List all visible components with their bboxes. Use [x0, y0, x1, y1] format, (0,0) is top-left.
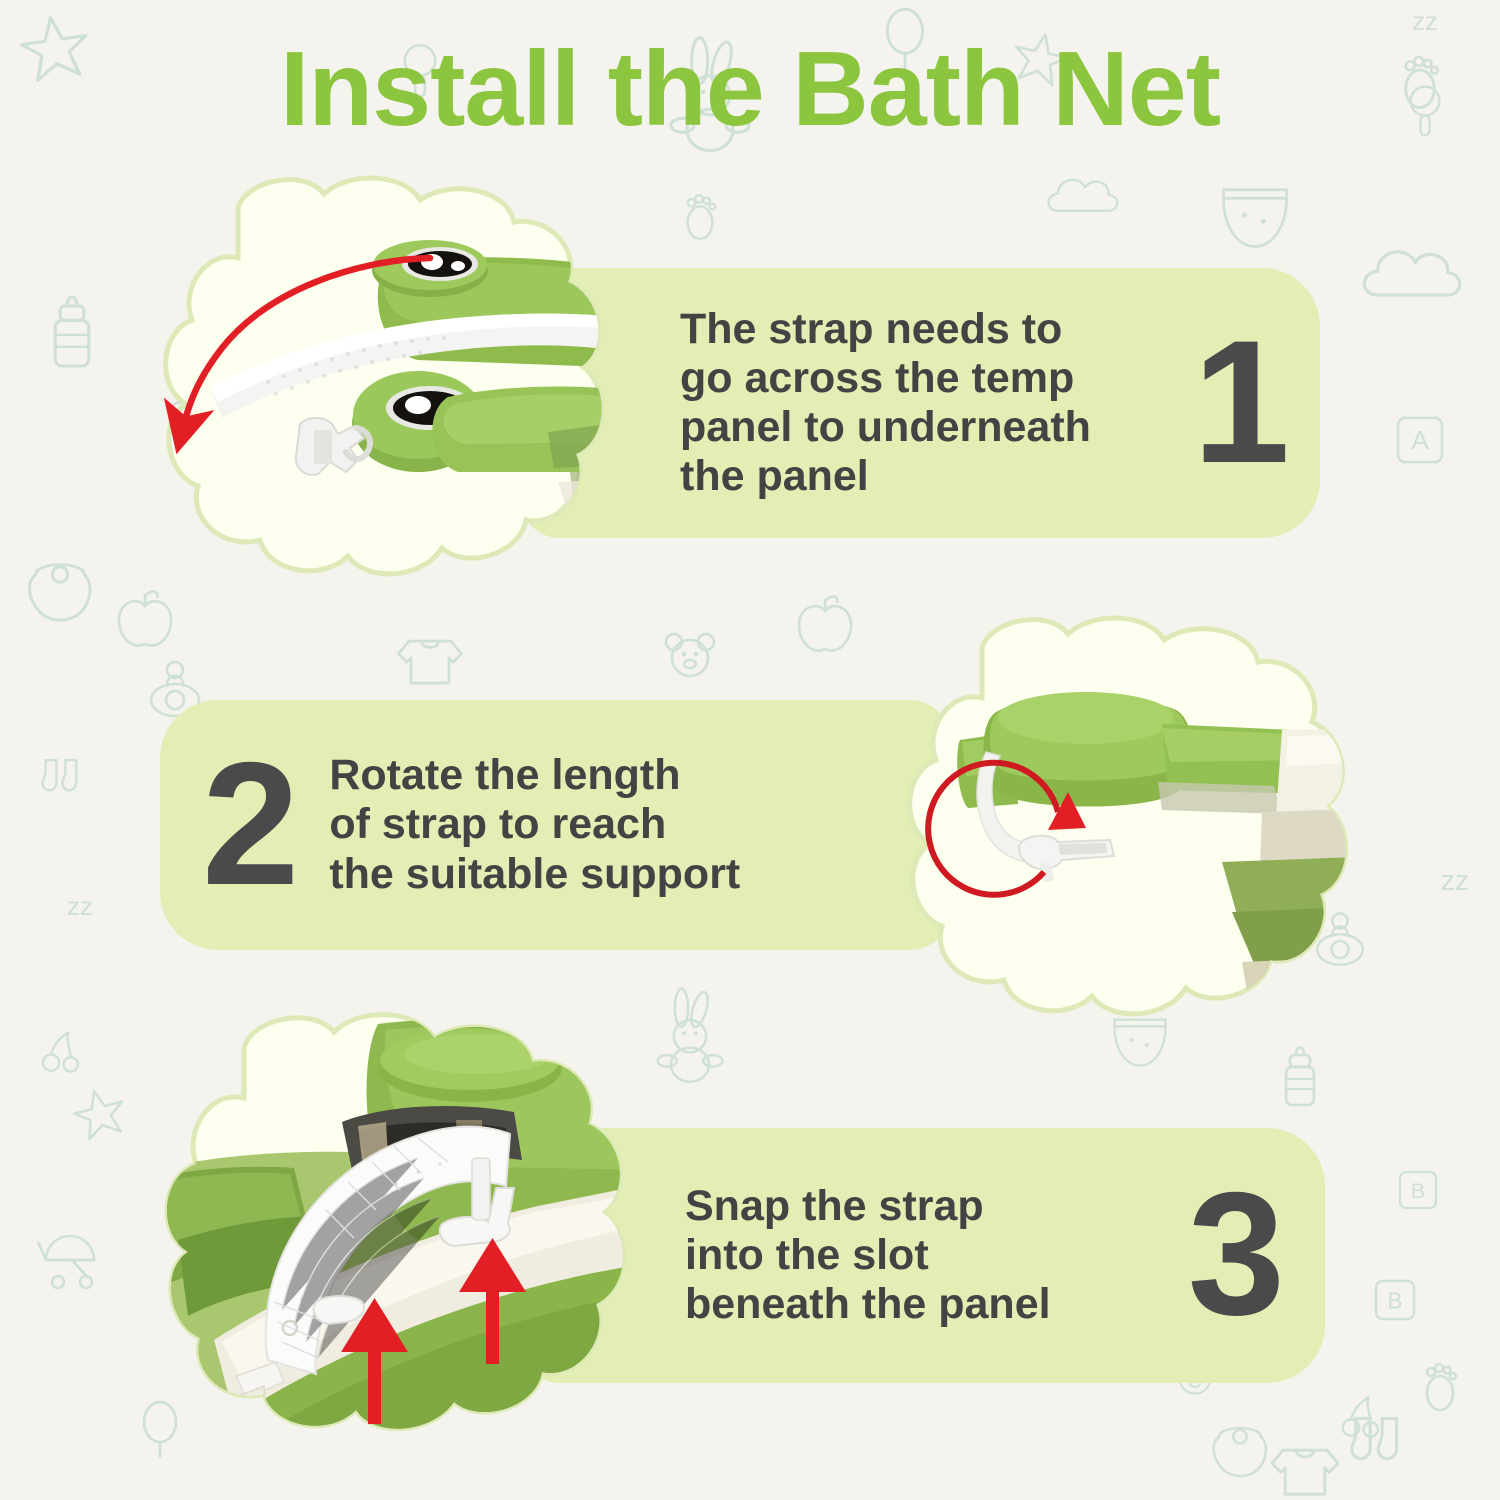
step-1-image-panel — [118, 172, 638, 614]
up-arrow-right — [459, 1238, 526, 1364]
step-2-text-pill: 2 Rotate the length of strap to reach th… — [160, 700, 950, 950]
step-2-arrow — [862, 612, 1382, 1054]
up-arrow-left — [341, 1298, 408, 1424]
step-3-instruction: Snap the strap into the slot beneath the… — [685, 1182, 1051, 1329]
step-1-arrow — [118, 172, 638, 614]
step-3-number: 3 — [1188, 1181, 1281, 1330]
step-2-number: 2 — [202, 751, 295, 900]
page-title: Install the Bath Net — [0, 34, 1500, 145]
step-3-arrows — [118, 1010, 658, 1472]
step-1-instruction: The strap needs to go across the temp pa… — [680, 305, 1091, 501]
step-1-number: 1 — [1193, 329, 1286, 478]
step-3-image-panel — [118, 1010, 658, 1472]
step-2-image-panel — [862, 612, 1382, 1054]
step-1-text-pill: The strap needs to go across the temp pa… — [520, 268, 1320, 538]
step-2-instruction: Rotate the length of strap to reach the … — [329, 751, 740, 898]
